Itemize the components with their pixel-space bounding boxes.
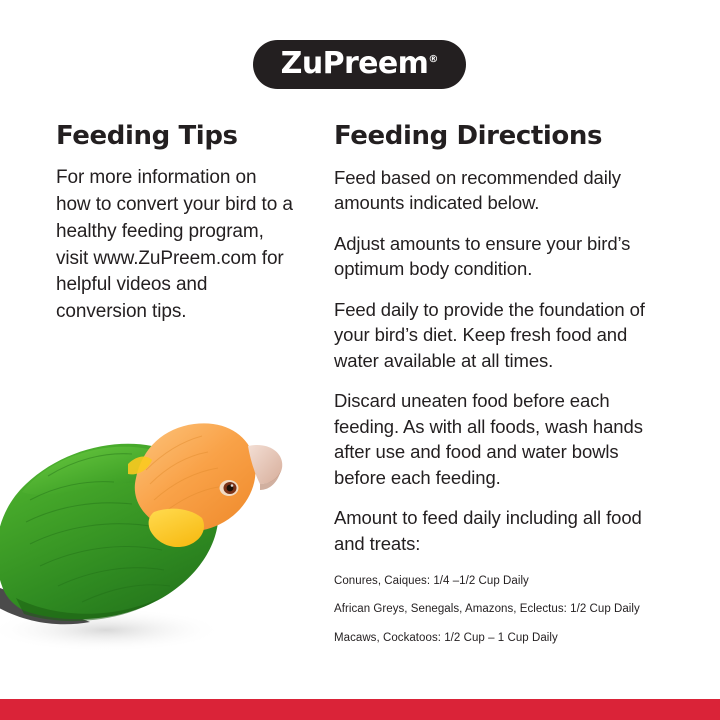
feeding-amounts-list: Conures, Caiques: 1/4 –1/2 Cup Daily Afr… [334, 574, 674, 646]
bird-tail [0, 588, 90, 624]
bottom-accent-bar [0, 699, 720, 720]
feeding-amount-item: Macaws, Cockatoos: 1/2 Cup – 1 Cup Daily [334, 631, 674, 646]
bird-eye-highlight [231, 484, 234, 487]
feeding-amount-item: African Greys, Senegals, Amazons, Eclect… [334, 602, 674, 617]
feeding-tips-body: For more information on how to convert y… [56, 165, 294, 327]
feeding-directions-heading: Feeding Directions [334, 122, 674, 151]
logo-wordmark-text: ZuPreem [281, 46, 429, 81]
bird-head [135, 423, 256, 531]
feeding-amount-item: Conures, Caiques: 1/4 –1/2 Cup Daily [334, 574, 674, 589]
bird-body-shading [16, 598, 160, 621]
bird-eye-iris [224, 482, 237, 494]
feeding-directions-paragraph-2: Adjust amounts to ensure your bird’s opt… [334, 231, 674, 282]
feeding-amounts-intro: Amount to feed daily including all food … [334, 505, 674, 556]
feeding-directions-paragraph-4: Discard uneaten food before each feeding… [334, 388, 674, 490]
bird-nape-patch [128, 457, 152, 475]
bird-beak-lower [260, 470, 281, 490]
bird-shadow [0, 608, 224, 652]
feeding-tips-column: Feeding Tips For more information on how… [56, 122, 294, 326]
logo-wordmark: ZuPreem® [281, 49, 439, 79]
bird-eye-ring [220, 480, 239, 496]
feeding-tips-heading: Feeding Tips [56, 122, 294, 151]
bird-wing [22, 447, 210, 504]
feeding-directions-column: Feeding Directions Feed based on recomme… [334, 122, 674, 646]
feeding-directions-paragraph-3: Feed daily to provide the foundation of … [334, 297, 674, 374]
bird-beak [248, 445, 282, 484]
bird-feather-detail [26, 454, 170, 602]
bird-throat [149, 509, 204, 547]
logo-pill-background: ZuPreem® [253, 40, 466, 89]
feeding-directions-paragraph-1: Feed based on recommended daily amounts … [334, 165, 674, 216]
bird-head-feather-detail [146, 436, 226, 514]
caique-parrot-illustration [0, 372, 306, 658]
bird-body [0, 444, 218, 619]
registered-trademark-icon: ® [428, 54, 438, 65]
brand-logo: ZuPreem® [253, 40, 466, 89]
bird-eye-pupil [227, 485, 234, 492]
product-label-panel: ZuPreem® Feeding Tips For more informati… [0, 0, 720, 720]
